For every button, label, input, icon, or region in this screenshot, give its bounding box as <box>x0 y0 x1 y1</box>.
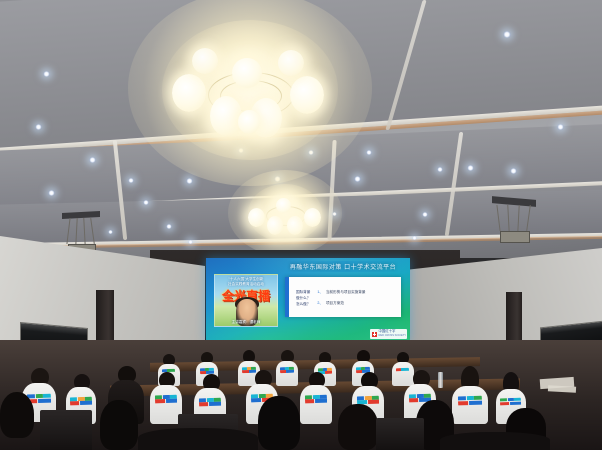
tshirt <box>276 361 298 386</box>
downlight <box>412 236 417 240</box>
downlight <box>510 168 517 174</box>
audience-member-front <box>0 392 44 450</box>
panel-body: 国际背景 做什么？ 怎么做？ 1、 当前形势与项目实施背景 2、 项目方案范 <box>289 277 401 317</box>
downlight <box>422 212 428 217</box>
video-poster-subtitles: “十人六国”大学生创新 社会实践教育活动启动 <box>215 275 277 288</box>
red-cross-icon <box>372 332 377 337</box>
projector-rod <box>75 218 77 246</box>
downlight <box>143 200 149 205</box>
far-chandelier <box>240 182 330 244</box>
downlight <box>48 190 55 196</box>
head-long-hair <box>338 404 378 450</box>
video-poster-line2: 社会实践教育活动启动 <box>228 282 264 287</box>
panel-item-1: 1、 当前形势与项目实施背景 <box>317 290 397 295</box>
corner-logo-line2: RED CROSS SOCIETY <box>379 334 407 338</box>
audience-member <box>276 350 298 386</box>
panel-left-line-2: 做什么？ <box>296 296 310 300</box>
downlight <box>354 176 361 182</box>
panel-item-1-number: 1、 <box>317 290 323 295</box>
projector-ceiling-plate <box>62 211 100 219</box>
downlight <box>128 178 134 183</box>
screen-header-text: 再融华东国际对策 口十学术交流平台 <box>290 262 396 271</box>
right-mount-rod <box>517 205 519 233</box>
projector-rod <box>66 218 70 244</box>
foreground-silhouette <box>440 432 550 450</box>
right-mount-rod <box>526 205 531 231</box>
panel-left-lines: 国际背景 做什么？ 怎么做？ <box>296 282 310 313</box>
downlight <box>166 224 172 229</box>
panel-left-line-1: 国际背景 <box>296 290 310 294</box>
tshirt-print <box>155 395 177 405</box>
head-long-hair <box>0 392 34 438</box>
screen-corner-logo: 中国红十字 RED CROSS SOCIETY <box>370 329 407 339</box>
downlight <box>366 150 372 155</box>
main-chandelier <box>150 14 350 154</box>
downlight <box>108 230 113 234</box>
downlight <box>557 124 564 130</box>
right-mount-rod <box>496 205 500 231</box>
screen-header-banner: 再融华东国际对策 口十学术交流平台 <box>280 261 406 272</box>
conference-hall-photo: 再融华东国际对策 口十学术交流平台 “十人六国”大学生创新 社会实践教育活动启动… <box>0 0 602 450</box>
downlight <box>35 124 42 130</box>
coffered-ceiling <box>0 0 602 258</box>
projection-screen[interactable]: 再融华东国际对策 口十学术交流平台 “十人六国”大学生创新 社会实践教育活动启动… <box>206 258 410 342</box>
downlight <box>467 165 474 171</box>
seat-back[interactable] <box>376 418 424 450</box>
downlight <box>503 31 511 38</box>
foreground-silhouette <box>138 428 258 450</box>
water-bottle[interactable] <box>438 372 443 388</box>
panel-item-2: 2、 项目方案范 <box>317 301 397 306</box>
right-mount-body <box>500 231 530 243</box>
downlight <box>89 157 96 163</box>
head-long-hair <box>100 400 138 450</box>
tshirt-print <box>500 398 521 407</box>
panel-item-2-number: 2、 <box>317 301 323 306</box>
tshirt-print <box>280 367 294 373</box>
seat-back[interactable] <box>40 410 92 450</box>
video-poster[interactable]: “十人六国”大学生创新 社会实践教育活动启动 全光直播 主讲嘉宾：谭老师 <box>214 274 278 327</box>
tshirt-print <box>70 397 92 407</box>
downlight <box>43 71 50 77</box>
projector-rod <box>90 218 95 244</box>
panel-item-1-text: 当前形势与项目实施背景 <box>326 290 366 295</box>
panel-left-line-3: 怎么做？ <box>296 302 310 306</box>
downlight <box>437 167 443 172</box>
downlight <box>188 240 193 244</box>
video-poster-footer: 主讲嘉宾：谭老师 <box>215 320 277 325</box>
right-mount-rod <box>507 205 509 233</box>
tshirt-print <box>199 398 221 408</box>
panel-right-items: 1、 当前形势与项目实施背景 2、 项目方案范 <box>317 282 397 313</box>
ceiling-mount-right <box>484 198 542 248</box>
head-long-hair <box>258 396 300 450</box>
downlight <box>186 178 193 184</box>
panel-item-2-text: 项目方案范 <box>326 301 344 306</box>
slide-content-panel[interactable]: 国际背景 做什么？ 怎么做？ 1、 当前形势与项目实施背景 2、 项目方案范 <box>285 277 401 317</box>
projector-rod <box>83 218 85 246</box>
